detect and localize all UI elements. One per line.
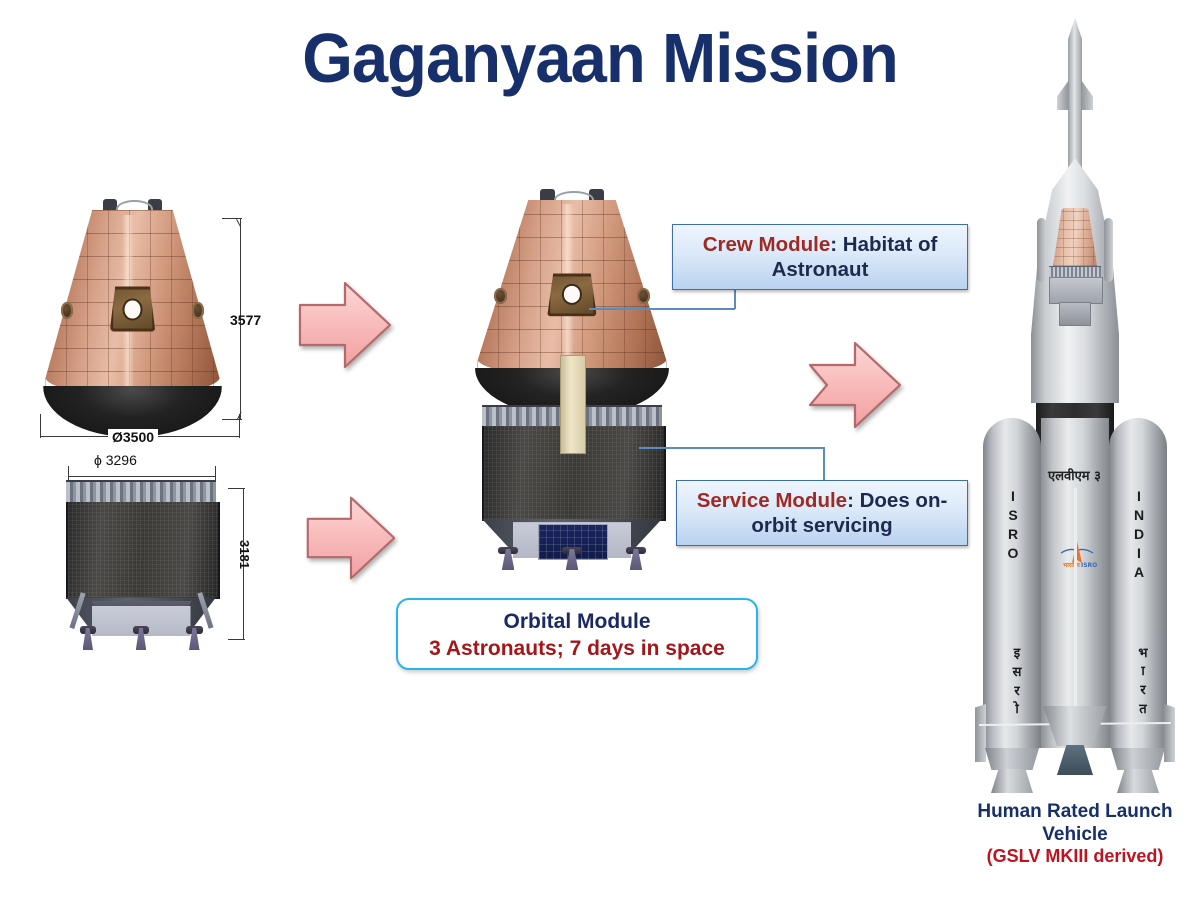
launch-vehicle-service-body <box>1049 277 1103 304</box>
dimension-crew-diameter-label: Ø3500 <box>108 429 158 445</box>
booster-left-skirt <box>985 748 1039 770</box>
dimension-service-height-label: 3181 <box>237 540 252 569</box>
fairing-rail-left <box>1037 218 1046 282</box>
escape-tower-fin-right <box>1081 80 1093 110</box>
caption-line-3: (GSLV MKIII derived) <box>950 846 1200 868</box>
arrow-orbital-to-launcher <box>805 335 905 435</box>
dimension-service-diameter-label: ϕ 3296 <box>90 452 141 468</box>
dimension-crew-height-label: 3577 <box>230 312 261 328</box>
svg-text:ISRO: ISRO <box>1081 562 1097 568</box>
fairing-rail-right <box>1104 218 1113 282</box>
core-engine-nozzle <box>1057 745 1093 775</box>
service-body <box>66 502 220 599</box>
arrow-service-to-orbital <box>303 490 399 586</box>
launch-vehicle-caption: Human Rated Launch Vehicle (GSLV MKIII d… <box>950 800 1200 868</box>
arrow-crew-to-orbital <box>295 275 395 375</box>
booster-left-nozzle <box>991 769 1033 793</box>
orbital-connector-strip <box>560 355 586 454</box>
capsule-hatch <box>110 287 156 332</box>
booster-fin-right <box>1164 704 1175 762</box>
service-module-diagram <box>66 480 216 650</box>
orbital-module-title: Orbital Module <box>412 609 742 635</box>
booster-right-label-hi: भारत <box>1132 643 1150 718</box>
orbital-capsule-port-right <box>637 288 650 304</box>
launch-vehicle-adapter <box>1059 302 1091 326</box>
svg-text:भारतीय: भारतीय <box>1063 561 1080 568</box>
core-marking-label: एलवीएम ३ <box>1048 466 1101 484</box>
callout-crew-module: Crew Module: Habitat of Astronaut <box>672 224 968 290</box>
escape-tower <box>1068 18 1082 168</box>
orbital-module-box: Orbital Module 3 Astronauts; 7 days in s… <box>396 598 758 670</box>
leader-service-horizontal <box>639 447 825 449</box>
escape-tower-fin-left <box>1057 80 1069 110</box>
caption-line-1: Human Rated Launch <box>950 800 1200 823</box>
caption-line-2: Vehicle <box>950 823 1200 846</box>
leader-crew-vertical <box>734 290 736 309</box>
callout-crew-accent: Crew Module <box>703 233 831 256</box>
core-cable-tray <box>1074 488 1077 743</box>
booster-right-skirt <box>1111 748 1165 770</box>
launch-vehicle-diagram: एलवीएम ३ भारतीय ISRO ISRO इसरो INDIA भार… <box>975 18 1175 788</box>
orbital-capsule-hatch <box>547 273 596 316</box>
orbital-module-detail: 3 Astronauts; 7 days in space <box>412 635 742 662</box>
slide-canvas: Gaganyaan Mission 3577 Ø3500 <box>0 0 1200 900</box>
leader-service-vertical <box>823 447 825 480</box>
callout-service-accent: Service Module <box>697 489 847 512</box>
booster-right-nozzle <box>1117 769 1159 793</box>
capsule-port-left <box>61 302 73 319</box>
isro-logo-icon: भारतीय ISRO <box>1051 538 1103 571</box>
booster-fin-left <box>975 704 986 762</box>
booster-left-label-en: ISRO <box>1005 488 1021 564</box>
leader-crew-horizontal <box>589 308 735 310</box>
crew-module-diagram <box>45 210 220 435</box>
booster-right-label-en: INDIA <box>1131 488 1147 583</box>
callout-service-module: Service Module: Does on-orbit servicing <box>676 480 968 546</box>
booster-left-label-hi: इसरो <box>1006 643 1024 718</box>
